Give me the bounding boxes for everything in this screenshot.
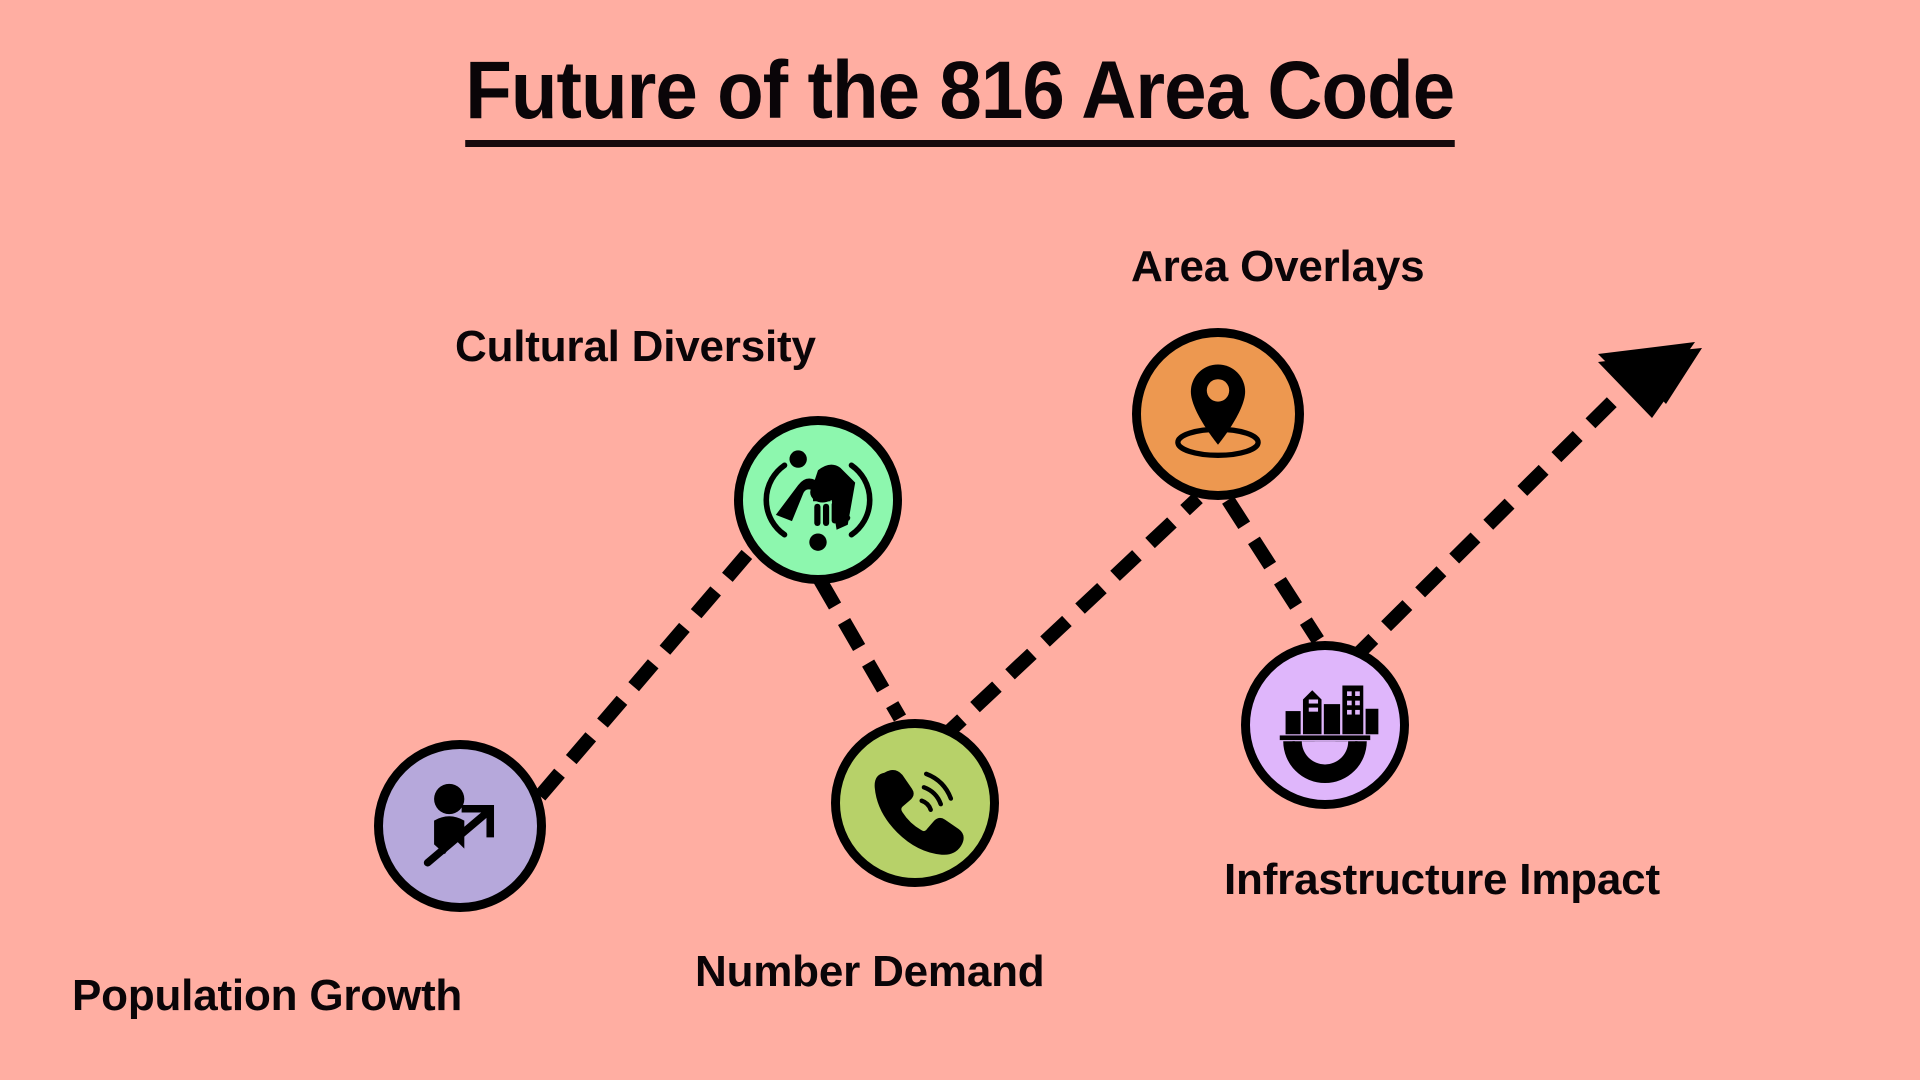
phone-signal-icon [859, 747, 971, 859]
diagram-connector-layer [0, 0, 1920, 1080]
node-area-overlays[interactable] [1132, 328, 1304, 500]
node-population-growth[interactable] [374, 740, 546, 912]
node-label-cultural-diversity: Cultural Diversity [455, 325, 816, 369]
person-growth-arrow-icon [406, 772, 514, 880]
node-label-population-growth: Population Growth [72, 974, 462, 1018]
dash-segment-cultural-to-number [820, 580, 900, 718]
dashed-path-group [540, 342, 1702, 796]
dash-segment-overlays-to-infrastructure [1228, 500, 1318, 640]
city-gear-icon [1267, 667, 1383, 783]
node-cultural-diversity[interactable] [734, 416, 902, 584]
handshake-network-icon [756, 438, 880, 562]
node-label-infrastructure-impact: Infrastructure Impact [1224, 858, 1660, 902]
map-pin-icon [1159, 355, 1277, 473]
node-infrastructure-impact[interactable] [1241, 641, 1409, 809]
node-number-demand[interactable] [831, 719, 999, 887]
node-label-area-overlays: Area Overlays [1131, 245, 1424, 289]
dash-segment-number-to-overlays [940, 498, 1198, 740]
infographic-canvas: Future of the 816 Area Code Population G… [0, 0, 1920, 1080]
dash-segment-population-to-cultural [540, 545, 755, 796]
node-label-number-demand: Number Demand [695, 950, 1044, 994]
dash-segment-infrastructure-to-arrow [1352, 392, 1622, 660]
